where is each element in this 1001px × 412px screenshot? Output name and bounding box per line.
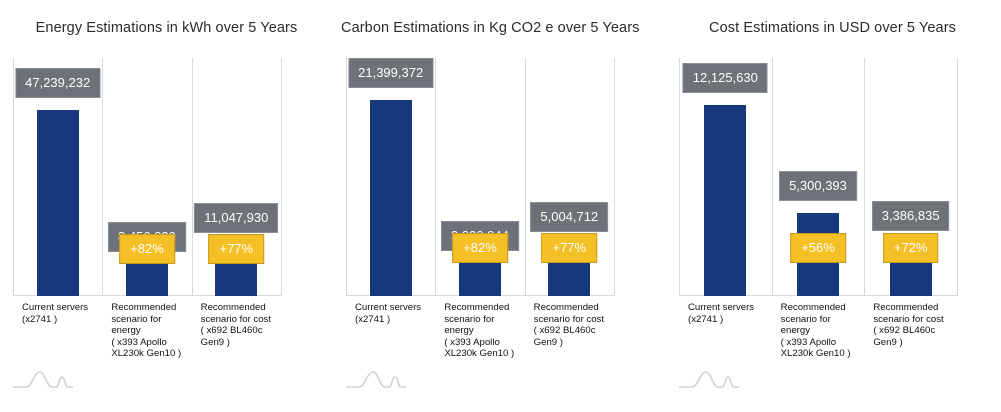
bar[interactable] (370, 100, 412, 296)
category-labels-carbon: Current servers(x2741 ) Recommendedscena… (346, 302, 614, 372)
category-label: Current servers(x2741 ) (346, 302, 435, 325)
bar[interactable] (126, 263, 168, 296)
category-labels-cost: Current servers(x2741 ) Recommendedscena… (679, 302, 957, 372)
plot-area-cost: 12,125,630 5,300,393 +56% 3,386,835 +72% (679, 58, 957, 296)
bar-group-current-servers: 12,125,630 (679, 58, 772, 296)
bar[interactable] (37, 110, 79, 296)
category-label: Recommendedscenario for cost( x692 BL460… (192, 302, 281, 348)
category-label: Recommendedscenario for cost( x692 BL460… (864, 302, 957, 348)
charts-dashboard: Energy Estimations in kWh over 5 Years 4… (0, 0, 1001, 412)
bar-percent-badge: +77% (541, 233, 597, 263)
chart-panel-energy: Energy Estimations in kWh over 5 Years 4… (0, 0, 333, 412)
bar[interactable] (704, 105, 746, 296)
category-label: Recommendedscenario forenergy( x393 Apol… (772, 302, 865, 360)
plot-separator-line (281, 58, 282, 296)
plot-separator-line (614, 58, 615, 296)
plot-separator-line (957, 58, 958, 296)
bar-value-label: 5,300,393 (779, 171, 857, 201)
bar-group-current-servers: 47,239,232 (13, 58, 102, 296)
bar[interactable] (459, 261, 501, 296)
bar-value-label: 3,386,835 (872, 201, 950, 231)
bar-percent-badge: +77% (208, 234, 264, 264)
bar-percent-badge: +56% (790, 233, 846, 263)
bar-value-label: 21,399,372 (348, 58, 433, 88)
bar-group-recommended-cost: 11,047,930 +77% (192, 58, 281, 296)
bar-percent-badge: +82% (452, 233, 508, 263)
mountains-icon (345, 368, 407, 390)
category-label: Recommendedscenario for cost( x692 BL460… (525, 302, 614, 348)
bar-group-recommended-energy: 5,300,393 +56% (772, 58, 865, 296)
bar-value-label: 11,047,930 (194, 203, 278, 233)
chart-title-energy: Energy Estimations in kWh over 5 Years (0, 20, 333, 36)
chart-title-cost: Cost Estimations in USD over 5 Years (666, 20, 999, 36)
plot-area-carbon: 21,399,372 3,830,944 +82% 5,004,712 +77% (346, 58, 614, 296)
bar-group-current-servers: 21,399,372 (346, 58, 435, 296)
bar-group-recommended-energy: 8,456,830 +82% (102, 58, 191, 296)
chart-panel-carbon: Carbon Estimations in Kg CO2 e over 5 Ye… (333, 0, 666, 412)
bar-value-label: 5,004,712 (530, 202, 608, 232)
bar-value-label: 47,239,232 (15, 68, 100, 98)
bar-group-recommended-cost: 3,386,835 +72% (864, 58, 957, 296)
chart-title-carbon: Carbon Estimations in Kg CO2 e over 5 Ye… (341, 20, 666, 36)
mountains-icon (12, 368, 74, 390)
bar-value-label: 12,125,630 (683, 63, 768, 93)
category-labels-energy: Current servers(x2741 ) Recommendedscena… (13, 302, 281, 372)
mountains-icon (678, 368, 740, 390)
bar-percent-badge: +72% (883, 233, 939, 263)
category-label: Recommendedscenario forenergy( x393 Apol… (102, 302, 191, 360)
plot-area-energy: 47,239,232 8,456,830 +82% 11,047,930 +77… (13, 58, 281, 296)
bar-percent-badge: +82% (119, 234, 175, 264)
bar-group-recommended-energy: 3,830,944 +82% (435, 58, 524, 296)
bar-group-recommended-cost: 5,004,712 +77% (525, 58, 614, 296)
category-label: Current servers(x2741 ) (679, 302, 772, 325)
category-label: Recommendedscenario forenergy( x393 Apol… (435, 302, 524, 360)
category-label: Current servers(x2741 ) (13, 302, 102, 325)
chart-panel-cost: Cost Estimations in USD over 5 Years 12,… (666, 0, 999, 412)
